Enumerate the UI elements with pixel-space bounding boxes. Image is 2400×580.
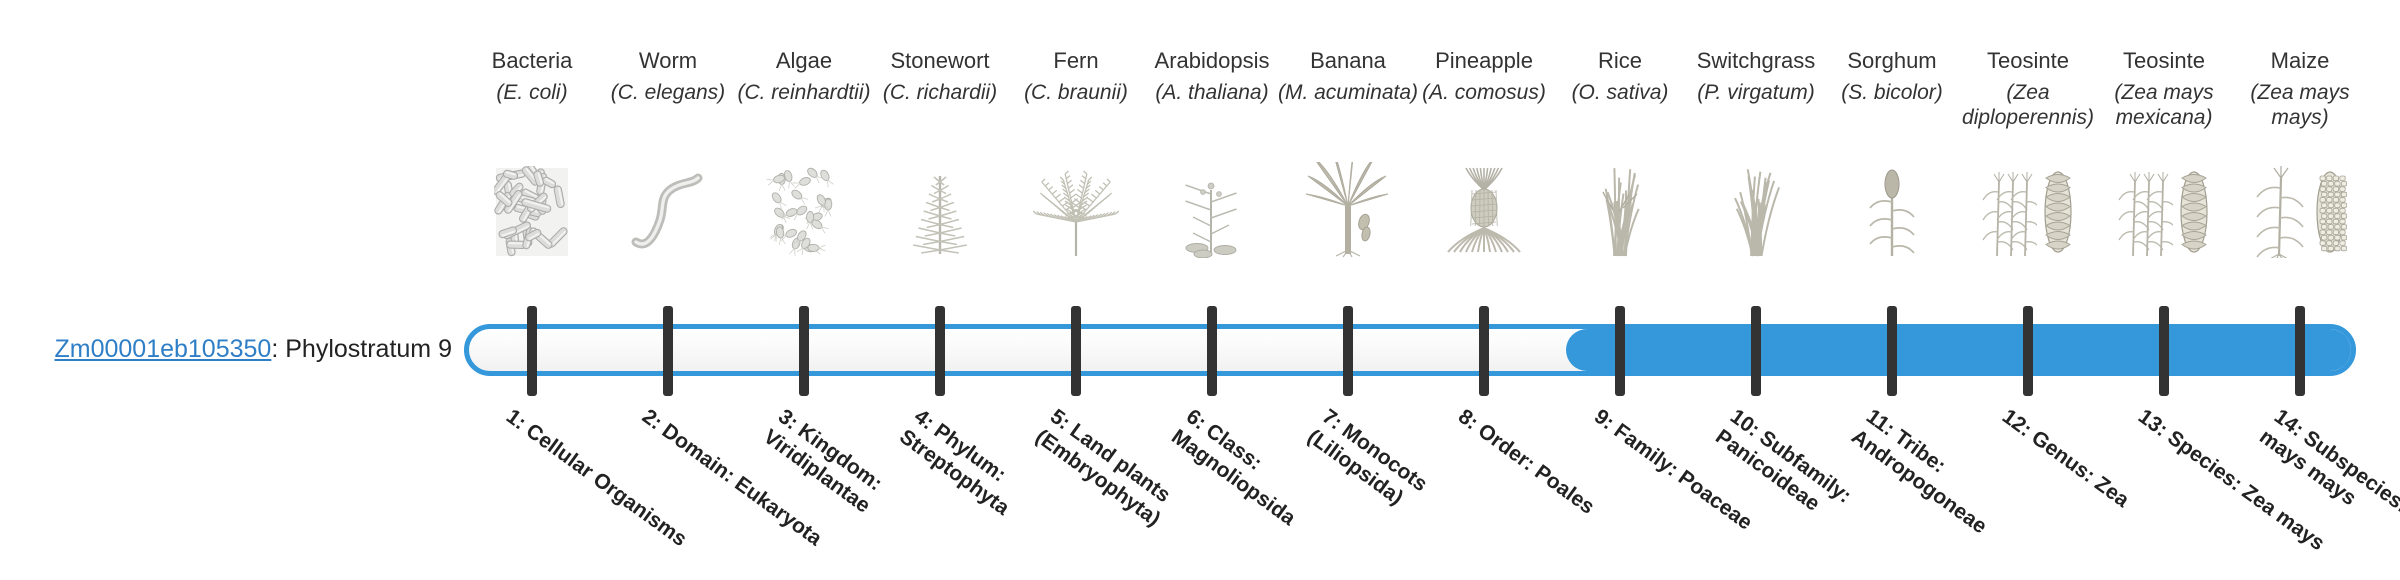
tick-mark	[1343, 306, 1353, 396]
rank-number: 12:	[1998, 405, 2036, 441]
sorghum-icon	[1824, 158, 1960, 258]
tick-mark	[1207, 306, 1217, 396]
species-latin-name: (Zea diploperennis)	[1950, 80, 2106, 130]
species-common-name: Bacteria	[454, 48, 610, 74]
species-column: Arabidopsis(A. thaliana)	[1144, 48, 1280, 306]
tick-marks	[464, 306, 2360, 402]
arabidopsis-icon	[1144, 158, 1280, 258]
species-column: Teosinte(Zea diploperennis)	[1960, 48, 2096, 306]
species-common-name: Worm	[590, 48, 746, 74]
species-column: Maize(Zea mays mays)	[2232, 48, 2368, 306]
tick-mark	[1071, 306, 1081, 396]
rank-name: Genus: Zea	[2027, 426, 2133, 512]
species-latin-name: (Zea mays mays)	[2222, 80, 2378, 130]
species-common-name: Stonewort	[862, 48, 1018, 74]
species-common-name: Pineapple	[1406, 48, 1562, 74]
fern-icon	[1008, 158, 1144, 258]
worm-icon	[600, 158, 736, 258]
gene-phylostratum-label: Zm00001eb105350: Phylostratum 9	[0, 334, 452, 364]
species-column: Switchgrass(P. virgatum)	[1688, 48, 1824, 306]
algae-icon	[736, 158, 872, 258]
tick-mark	[1479, 306, 1489, 396]
tick-mark	[2023, 306, 2033, 396]
tick-mark	[2295, 306, 2305, 396]
species-common-name: Algae	[726, 48, 882, 74]
phylostratum-value-text: Phylostratum 9	[285, 335, 452, 363]
teosinte-mexicana-icon	[2096, 158, 2232, 258]
species-common-name: Teosinte	[2086, 48, 2242, 74]
species-column: Stonewort(C. richardii)	[872, 48, 1008, 306]
tick-mark	[2159, 306, 2169, 396]
gene-label-separator: :	[271, 335, 285, 363]
species-latin-name: (A. comosus)	[1406, 80, 1562, 105]
tick-mark	[935, 306, 945, 396]
species-common-name: Rice	[1542, 48, 1698, 74]
rank-label: 14: Subspecies: Zea mays mays	[2255, 404, 2400, 580]
maize-icon	[2232, 158, 2368, 258]
tick-mark	[1615, 306, 1625, 396]
tick-mark	[1751, 306, 1761, 396]
tick-mark	[1887, 306, 1897, 396]
tick-mark	[663, 306, 673, 396]
species-latin-name: (C. braunii)	[998, 80, 1154, 105]
species-column: Fern(C. braunii)	[1008, 48, 1144, 306]
species-column: Banana(M. acuminata)	[1280, 48, 1416, 306]
species-latin-name: (O. sativa)	[1542, 80, 1698, 105]
species-common-name: Teosinte	[1950, 48, 2106, 74]
species-common-name: Switchgrass	[1678, 48, 1834, 74]
species-column: Sorghum(S. bicolor)	[1824, 48, 1960, 306]
species-latin-name: (C. reinhardtii)	[726, 80, 882, 105]
stonewort-icon	[872, 158, 1008, 258]
species-latin-name: (P. virgatum)	[1678, 80, 1834, 105]
rank-name: Order: Poales	[1474, 419, 1599, 519]
species-latin-name: (Zea mays mexicana)	[2086, 80, 2242, 130]
gene-id-link[interactable]: Zm00001eb105350	[54, 335, 271, 363]
switchgrass-icon	[1688, 158, 1824, 258]
tick-mark	[799, 306, 809, 396]
teosinte-diploperennis-icon	[1960, 158, 2096, 258]
species-common-name: Arabidopsis	[1134, 48, 1290, 74]
taxonomic-rank-labels: 1: Cellular Organisms2: Domain: Eukaryot…	[464, 404, 2360, 580]
species-column: Worm(C. elegans)	[600, 48, 736, 306]
pineapple-icon	[1416, 158, 1552, 258]
species-latin-name: (S. bicolor)	[1814, 80, 1970, 105]
tick-mark	[527, 306, 537, 396]
species-common-name: Fern	[998, 48, 1154, 74]
phylostratum-figure: Zm00001eb105350: Phylostratum 9 Bacteria…	[0, 0, 2400, 580]
species-common-name: Maize	[2222, 48, 2378, 74]
species-latin-name: (M. acuminata)	[1270, 80, 1426, 105]
species-latin-name: (E. coli)	[454, 80, 610, 105]
species-column: Teosinte(Zea mays mexicana)	[2096, 48, 2232, 306]
species-common-name: Banana	[1270, 48, 1426, 74]
species-latin-name: (C. richardii)	[862, 80, 1018, 105]
species-column: Algae(C. reinhardtii)	[736, 48, 872, 306]
banana-icon	[1280, 158, 1416, 258]
species-column: Pineapple(A. comosus)	[1416, 48, 1552, 306]
species-latin-name: (A. thaliana)	[1134, 80, 1290, 105]
bacteria-icon	[464, 158, 600, 258]
species-latin-name: (C. elegans)	[590, 80, 746, 105]
species-column: Rice(O. sativa)	[1552, 48, 1688, 306]
species-common-name: Sorghum	[1814, 48, 1970, 74]
rice-icon	[1552, 158, 1688, 258]
species-header-row: Bacteria(E. coli)Worm(C. elegans)Algae(C…	[464, 48, 2360, 306]
rank-number: 13:	[2134, 405, 2172, 441]
species-column: Bacteria(E. coli)	[464, 48, 600, 306]
